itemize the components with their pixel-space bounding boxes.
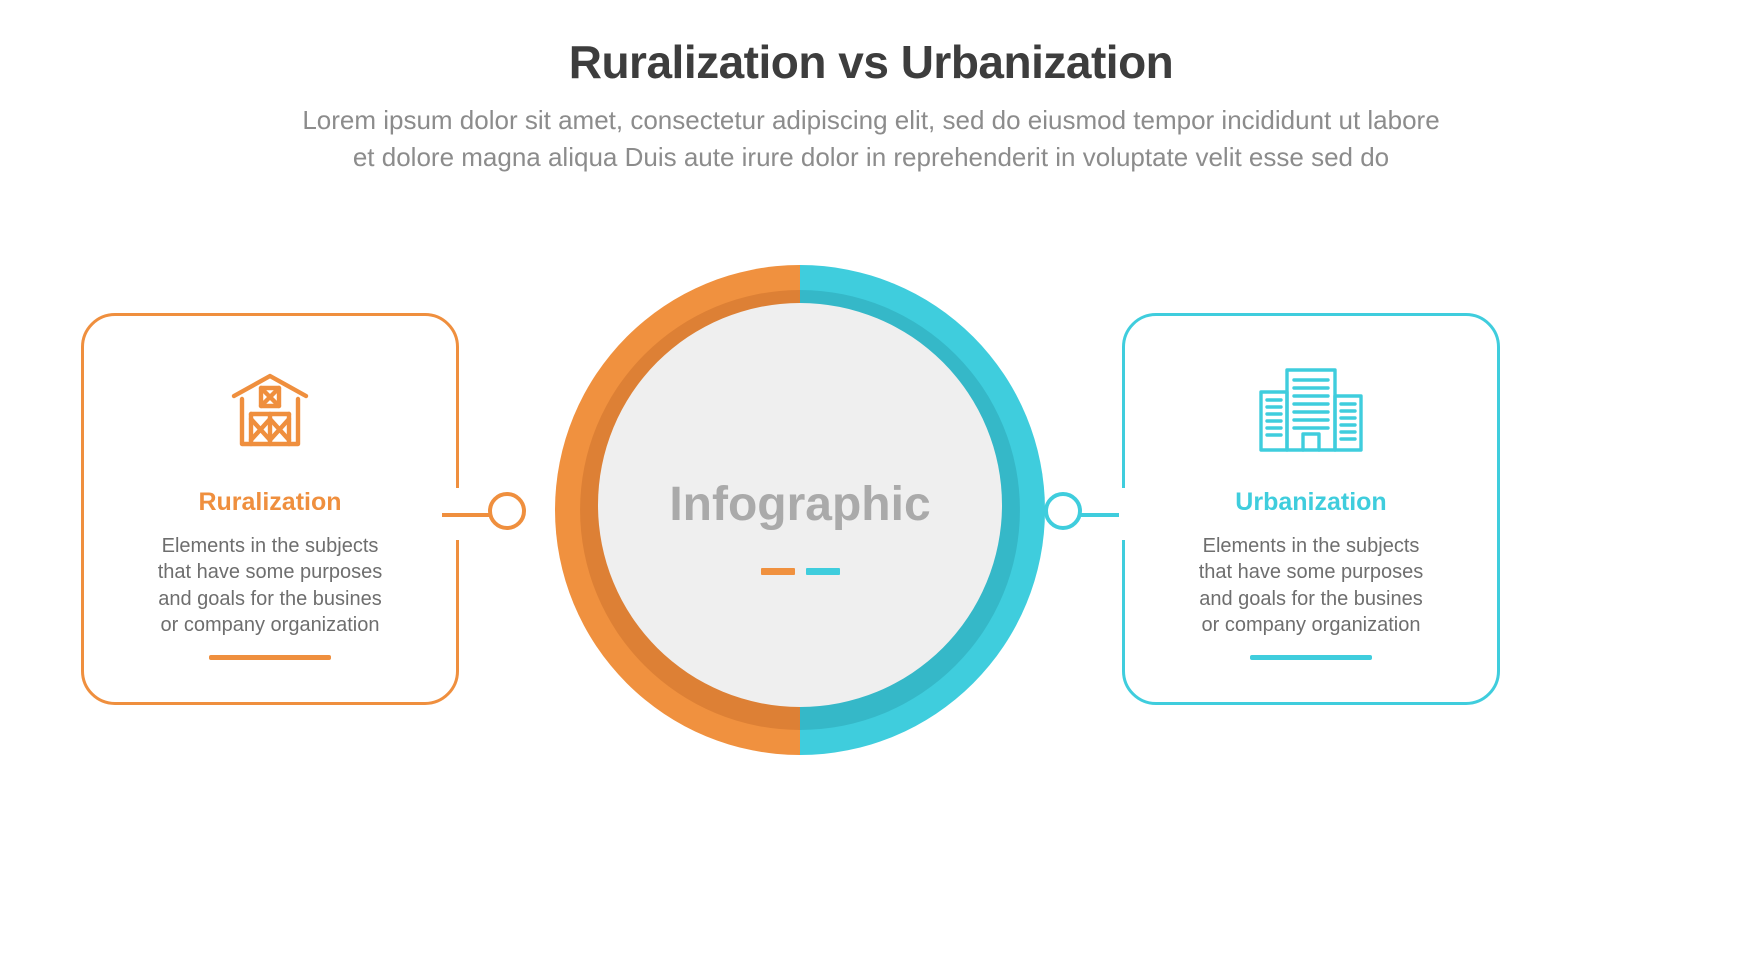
card-right-body-line-1: Elements in the subjects	[1161, 533, 1461, 559]
card-right-body: Elements in the subjects that have some …	[1161, 533, 1461, 639]
card-right-body-line-3: and goals for the busines	[1161, 586, 1461, 612]
page-subtitle: Lorem ipsum dolor sit amet, consectetur …	[131, 102, 1611, 176]
card-right-heading: Urbanization	[1235, 488, 1386, 517]
card-left-body: Elements in the subjects that have some …	[120, 533, 420, 639]
card-right-body-line-2: that have some purposes	[1161, 559, 1461, 585]
card-right-underline	[1250, 655, 1372, 660]
card-right-body-line-4: or company organization	[1161, 612, 1461, 638]
connector-left-node[interactable]	[488, 492, 526, 530]
donut-chart: Infographic	[545, 255, 1055, 765]
donut-dashes	[545, 568, 1055, 575]
card-left-content: Ruralization Elements in the subjects th…	[84, 316, 456, 702]
connector-right-node[interactable]	[1044, 492, 1082, 530]
card-left-underline	[209, 655, 331, 660]
card-right-content: Urbanization Elements in the subjects th…	[1125, 316, 1497, 702]
page-title: Ruralization vs Urbanization	[0, 38, 1742, 86]
card-ruralization[interactable]: Ruralization Elements in the subjects th…	[81, 313, 459, 705]
card-left-body-line-3: and goals for the busines	[120, 586, 420, 612]
page-subtitle-line-2: et dolore magna aliqua Duis aute irure d…	[131, 139, 1611, 176]
page-subtitle-line-1: Lorem ipsum dolor sit amet, consectetur …	[131, 102, 1611, 139]
connector-left-line	[442, 513, 492, 517]
card-left-body-line-1: Elements in the subjects	[120, 533, 420, 559]
connector-right	[1040, 492, 1130, 538]
card-left-body-line-4: or company organization	[120, 612, 420, 638]
donut-center-label: Infographic	[545, 477, 1055, 532]
card-left-heading: Ruralization	[198, 488, 341, 517]
dash-orange	[761, 568, 795, 575]
connector-left	[440, 492, 530, 538]
card-urbanization[interactable]: Urbanization Elements in the subjects th…	[1122, 313, 1500, 705]
city-buildings-icon	[1257, 360, 1365, 460]
barn-icon	[227, 360, 313, 460]
header: Ruralization vs Urbanization Lorem ipsum…	[0, 38, 1742, 176]
card-left-body-line-2: that have some purposes	[120, 559, 420, 585]
dash-cyan	[806, 568, 840, 575]
